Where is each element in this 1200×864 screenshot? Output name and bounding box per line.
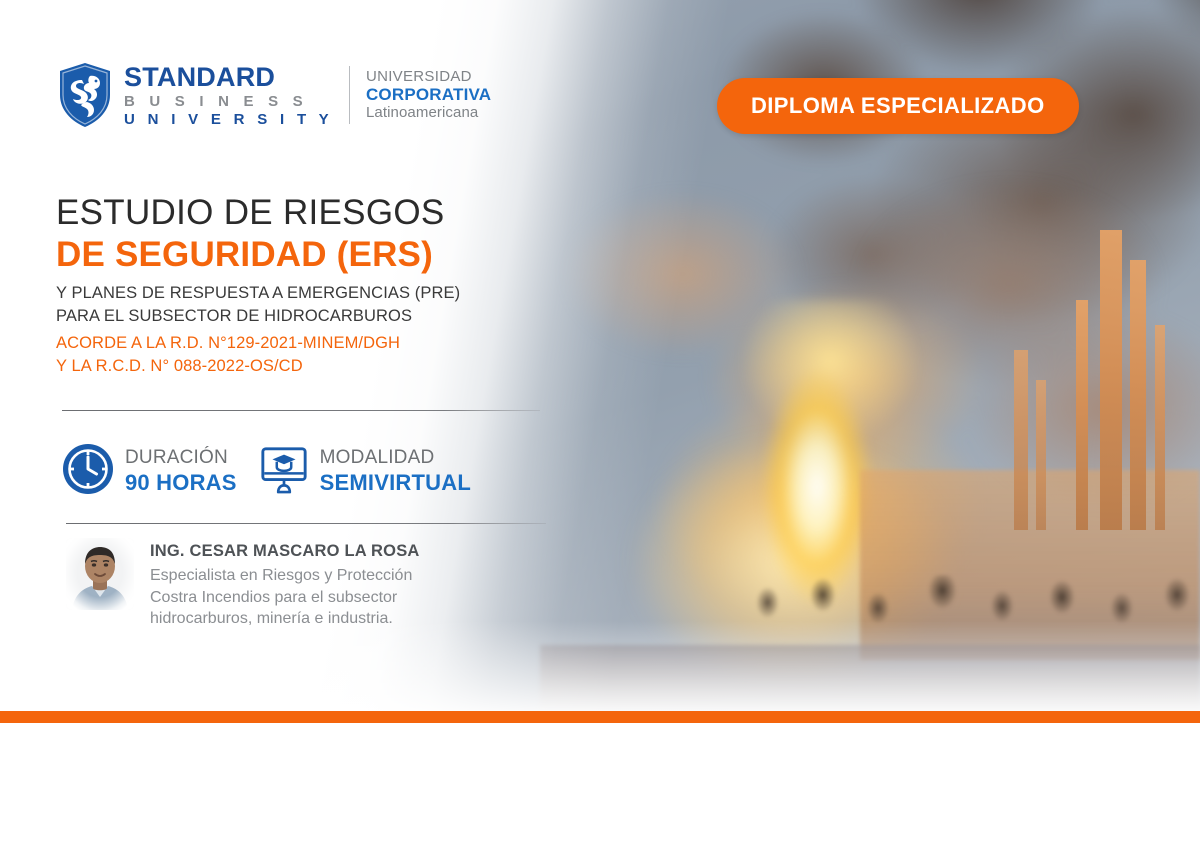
info-item-duration: DURACIÓN 90 HORAS: [62, 443, 237, 500]
uc-line-universidad: UNIVERSIDAD: [366, 69, 491, 86]
uc-line-latinoamericana: Latinoamericana: [366, 105, 491, 122]
speaker-desc-line-1: Especialista en Riesgos y Protección: [150, 565, 420, 587]
diploma-badge: DIPLOMA ESPECIALIZADO: [717, 78, 1079, 134]
divider-above-speaker: [66, 523, 546, 524]
photo-bottom-fade: [0, 621, 1200, 711]
speaker-text: ING. CESAR MASCARO LA ROSA Especialista …: [150, 538, 420, 630]
brand-divider: [349, 66, 350, 124]
clock-icon: [62, 443, 114, 500]
shield-lion-icon: [58, 62, 112, 128]
modality-text: MODALIDAD SEMIVIRTUAL: [320, 448, 471, 495]
monitor-graduation-cap-icon: [259, 444, 309, 499]
headline-block: ESTUDIO DE RIESGOS DE SEGURIDAD (ERS) Y …: [56, 193, 556, 378]
divider-above-info: [62, 410, 540, 411]
speaker-block: ING. CESAR MASCARO LA ROSA Especialista …: [66, 538, 536, 630]
info-item-modality: MODALIDAD SEMIVIRTUAL: [259, 444, 471, 499]
orange-divider-bar: [0, 711, 1200, 723]
sbu-wordmark: STANDARD B U S I N E S S U N I V E R S I…: [124, 64, 333, 127]
modality-label: MODALIDAD: [320, 448, 471, 469]
modality-value: SEMIVIRTUAL: [320, 471, 471, 495]
headline-ref-2: Y LA R.C.D. N° 088-2022-OS/CD: [56, 355, 556, 378]
headline-line-2: DE SEGURIDAD (ERS): [56, 234, 556, 275]
headline-line-1: ESTUDIO DE RIESGOS: [56, 193, 556, 232]
sbu-standard-text: STANDARD: [124, 64, 333, 91]
footer: isien Instituto Internacional de Energía…: [0, 723, 1200, 864]
sbu-business-text: B U S I N E S S: [124, 94, 333, 109]
headline-sub-1: Y PLANES DE RESPUESTA A EMERGENCIAS (PRE…: [56, 282, 556, 305]
sbu-university-text: U N I V E R S I T Y: [124, 112, 333, 127]
info-row: DURACIÓN 90 HORAS MODALIDAD SEM: [62, 443, 471, 500]
uc-line-corporativa: CORPORATIVA: [366, 85, 491, 104]
brand-logo-row: STANDARD B U S I N E S S U N I V E R S I…: [58, 62, 491, 128]
diploma-badge-label: DIPLOMA ESPECIALIZADO: [751, 93, 1045, 119]
speaker-desc-line-2: Costra Incendios para el subsector: [150, 587, 420, 609]
course-promo-banner: DIPLOMA ESPECIALIZADO STANDARD B U S I N…: [0, 0, 1200, 864]
duration-text: DURACIÓN 90 HORAS: [125, 448, 237, 495]
duration-label: DURACIÓN: [125, 448, 237, 469]
avatar: [66, 538, 134, 610]
headline-sub-2: PARA EL SUBSECTOR DE HIDROCARBUROS: [56, 305, 556, 328]
speaker-desc-line-3: hidrocarburos, minería e industria.: [150, 608, 420, 630]
speaker-name: ING. CESAR MASCARO LA ROSA: [150, 542, 420, 561]
duration-value: 90 HORAS: [125, 471, 237, 495]
headline-ref-1: ACORDE A LA R.D. N°129-2021-MINEM/DGH: [56, 332, 556, 355]
universidad-corporativa-wordmark: UNIVERSIDAD CORPORATIVA Latinoamericana: [366, 69, 491, 122]
